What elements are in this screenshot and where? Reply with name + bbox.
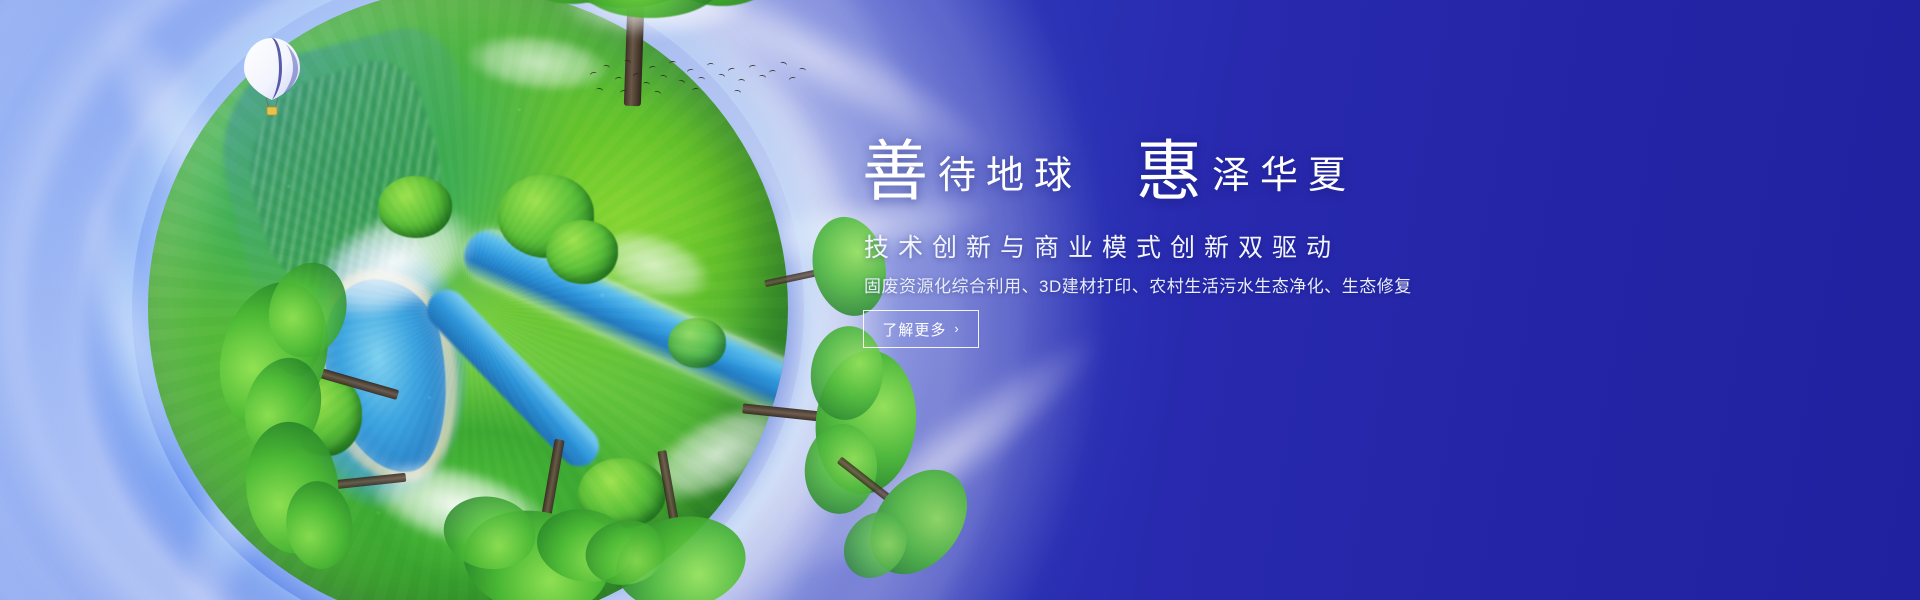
headline: 善待地球惠泽华夏 <box>862 140 1920 206</box>
banner-description: 固废资源化综合利用、3D建材打印、农村生活污水生态净化、生态修复 <box>864 272 1412 297</box>
learn-more-button[interactable]: 了解更多 › <box>863 310 979 348</box>
headline-char-1: 善 <box>862 136 928 209</box>
headline-text-2: 泽华夏 <box>1212 155 1356 197</box>
hero-banner: 善待地球惠泽华夏 技术创新与商业模式创新双驱动 固废资源化综合利用、3D建材打印… <box>0 0 1920 600</box>
banner-content: 善待地球惠泽华夏 技术创新与商业模式创新双驱动 固废资源化综合利用、3D建材打印… <box>862 0 1920 600</box>
headline-text-1: 待地球 <box>938 155 1082 197</box>
edge-tree <box>234 390 421 577</box>
hot-air-balloon-icon <box>240 36 304 122</box>
learn-more-label: 了解更多 <box>882 319 946 340</box>
headline-char-2: 惠 <box>1136 136 1202 209</box>
banner-subtitle: 技术创新与商业模式创新双驱动 <box>864 228 1340 264</box>
chevron-right-icon: › <box>954 322 959 335</box>
birds-flock <box>586 44 816 110</box>
